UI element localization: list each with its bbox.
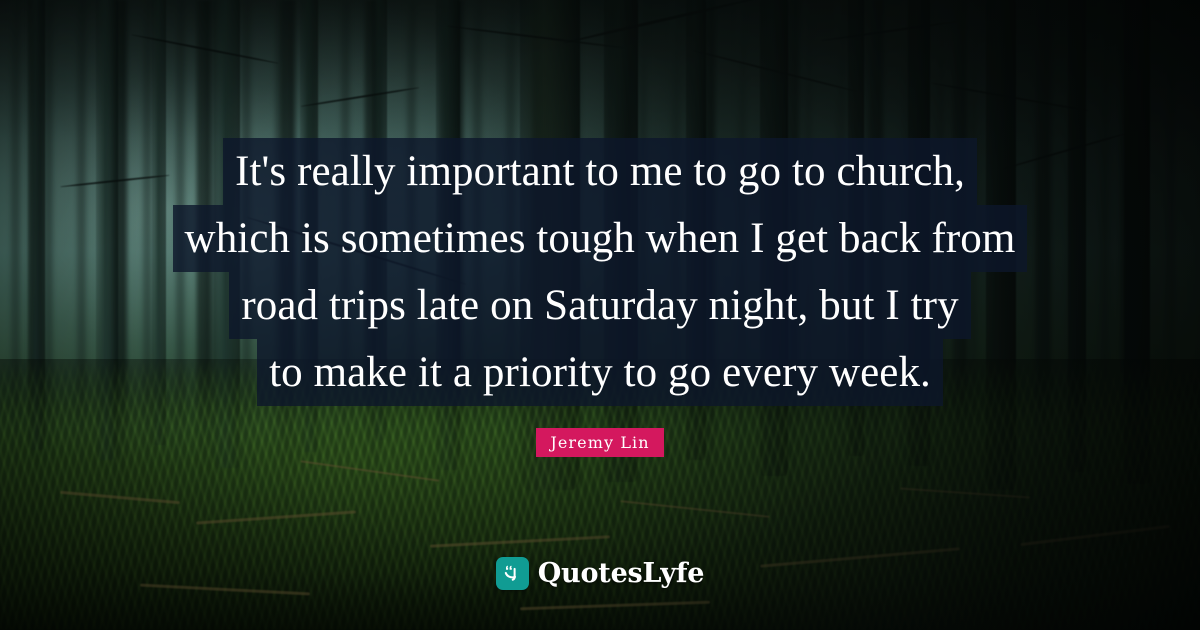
quote-line: which is sometimes tough when I get back…: [0, 205, 1200, 272]
quote-line: to make it a priority to go every week.: [0, 339, 1200, 406]
quote-line-text: It's really important to me to go to chu…: [223, 138, 977, 205]
quote-text: It's really important to me to go to chu…: [0, 138, 1200, 406]
quote-line: It's really important to me to go to chu…: [0, 138, 1200, 205]
quote-card: It's really important to me to go to chu…: [0, 0, 1200, 630]
brand-logo[interactable]: QuotesLyfe: [0, 557, 1200, 590]
quote-line: road trips late on Saturday night, but I…: [0, 272, 1200, 339]
quote-smiley-icon: [496, 557, 529, 590]
brand-name: QuotesLyfe: [538, 557, 705, 590]
author-name-badge[interactable]: Jeremy Lin: [536, 428, 663, 457]
quote-line-text: to make it a priority to go every week.: [257, 339, 943, 406]
quote-line-text: road trips late on Saturday night, but I…: [229, 272, 970, 339]
author-attribution: Jeremy Lin: [0, 428, 1200, 457]
quote-line-text: which is sometimes tough when I get back…: [173, 205, 1028, 272]
